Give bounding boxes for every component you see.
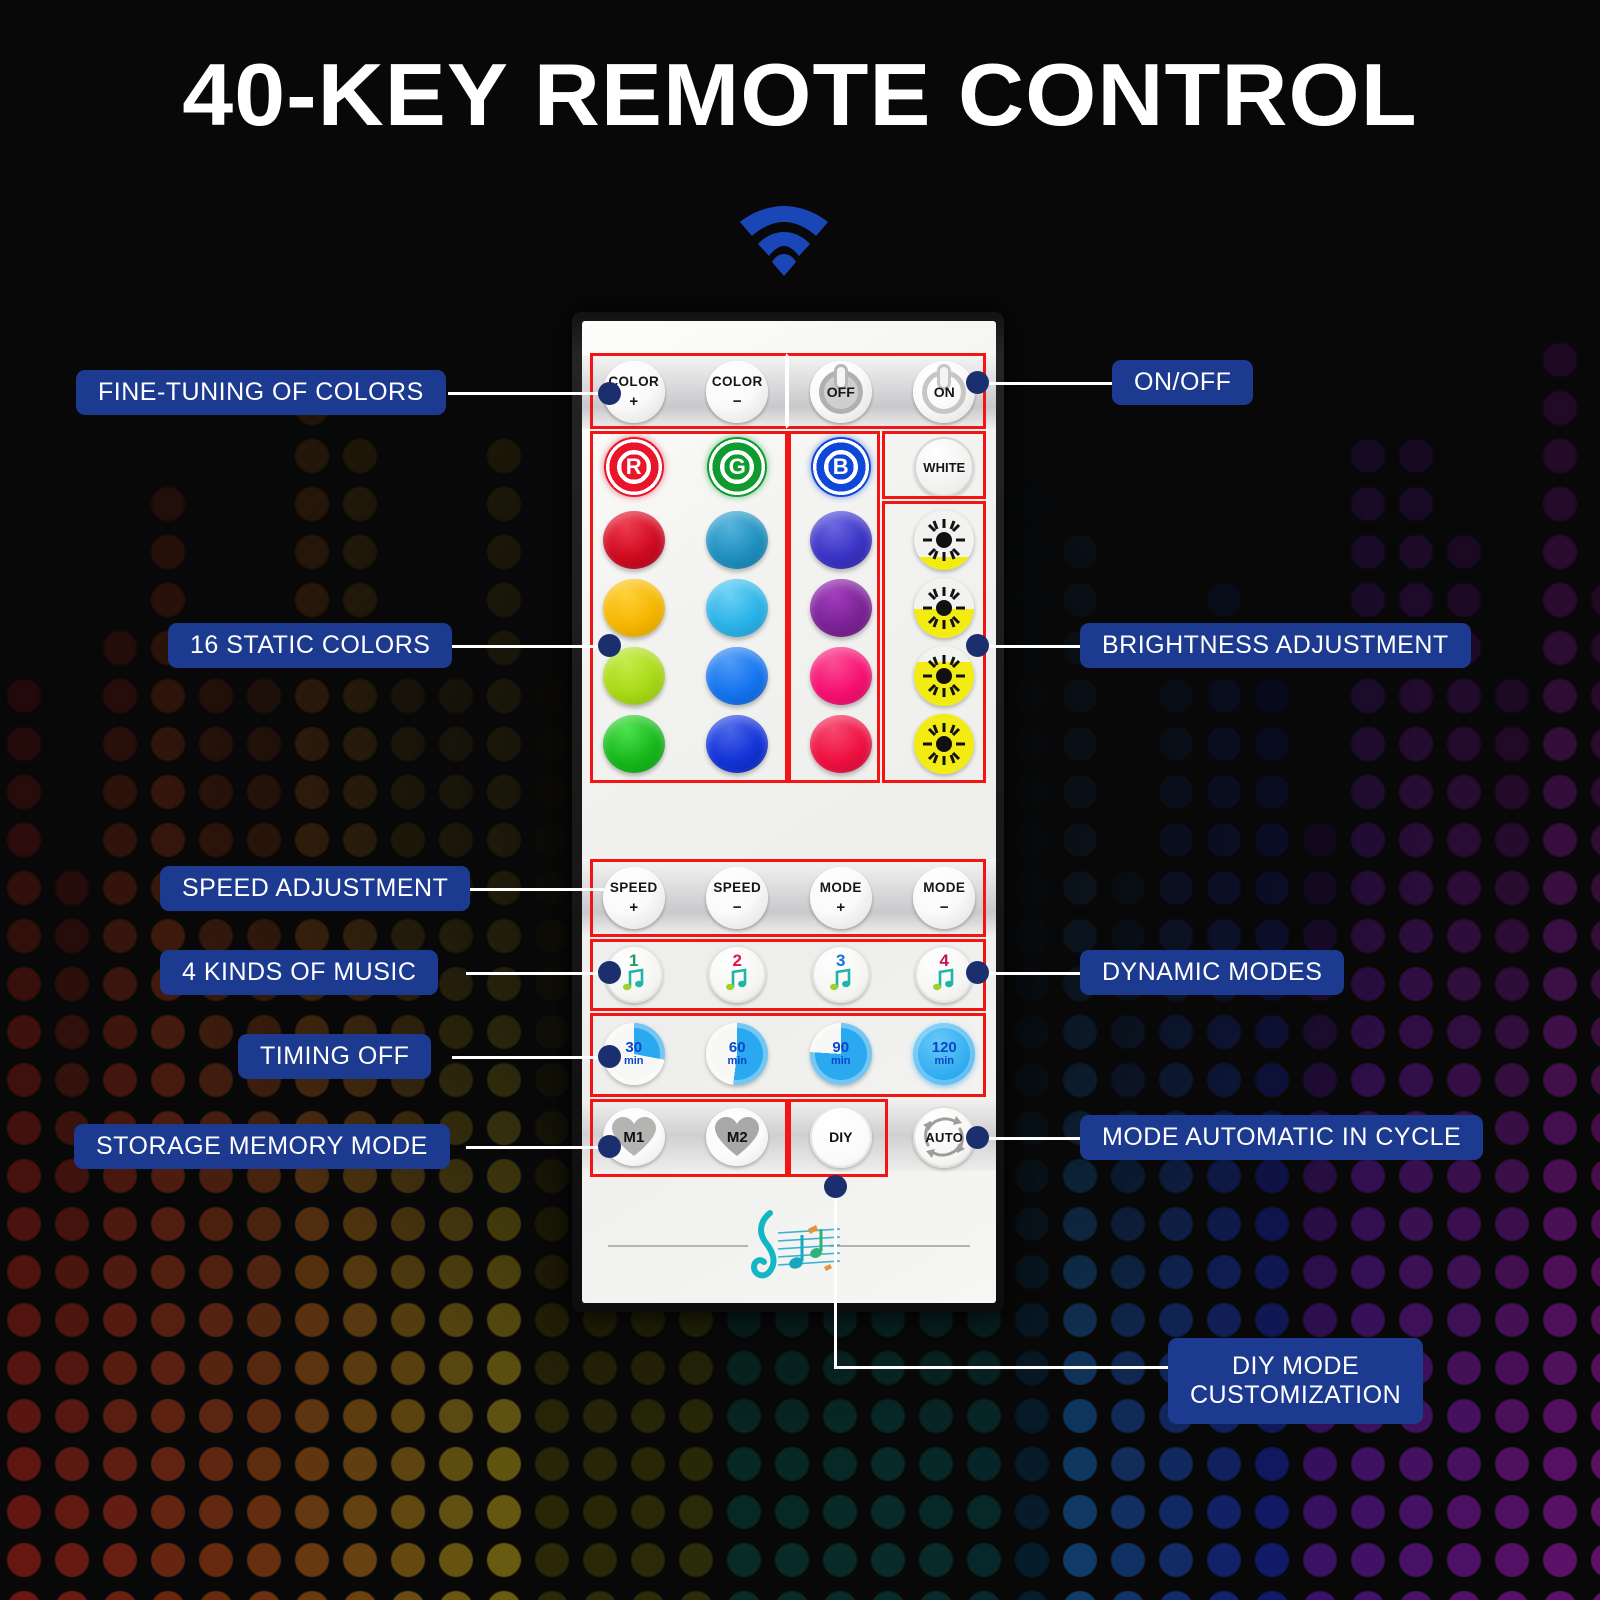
row-memory-diy-auto: M1 M2 DIY	[582, 1103, 996, 1171]
callout-speed-adjustment[interactable]: SPEED ADJUSTMENT	[160, 866, 470, 911]
timer-30-unit: min	[624, 1056, 644, 1067]
mode-minus-button[interactable]: MODE −	[913, 867, 975, 929]
node-brightness	[966, 634, 989, 657]
color-swatch[interactable]	[810, 715, 872, 773]
callout-on-off[interactable]: ON/OFF	[1112, 360, 1253, 405]
leader-auto	[980, 1137, 1082, 1140]
callout-diy-mode-customization[interactable]: DIY MODE CUSTOMIZATION	[1168, 1338, 1423, 1424]
diy-button[interactable]: DIY	[810, 1106, 872, 1168]
timer-90-button[interactable]: 90 min	[810, 1023, 872, 1085]
cell-timer-60: 60 min	[686, 1019, 790, 1089]
row-colors-4	[582, 711, 996, 777]
cell-color-c0r1	[582, 575, 686, 641]
color-swatch[interactable]	[810, 579, 872, 637]
callout-fine-tuning-of-colors[interactable]: FINE-TUNING OF COLORS	[76, 370, 446, 415]
row-rgb-white: R G B WHITE	[582, 433, 996, 501]
music-3-number: 3	[836, 952, 845, 969]
cell-white: WHITE	[893, 433, 997, 501]
cell-music-2: 2	[686, 941, 790, 1007]
brightness-level-1-button[interactable]	[914, 510, 974, 570]
cell-color-c1r3	[686, 711, 790, 777]
cell-red: R	[582, 433, 686, 501]
color-swatch[interactable]	[706, 647, 768, 705]
brightness-level-3-button[interactable]	[914, 646, 974, 706]
callout-mode-automatic-in-cycle[interactable]: MODE AUTOMATIC IN CYCLE	[1080, 1115, 1483, 1160]
mode-plus-sign: +	[836, 900, 845, 915]
color-swatch[interactable]	[706, 715, 768, 773]
memory-m2-button[interactable]: M2	[706, 1108, 768, 1166]
row-timers: 30 min 60 min 90 min 120 min	[582, 1019, 996, 1089]
speed-plus-button[interactable]: SPEED +	[603, 867, 665, 929]
blue-key-button[interactable]: B	[811, 437, 871, 497]
red-key-label: R	[626, 454, 642, 480]
node-dynamic	[966, 961, 989, 984]
white-key-label: WHITE	[923, 460, 965, 475]
node-auto	[966, 1126, 989, 1149]
leader-static-colors	[441, 645, 605, 648]
row-colors-3	[582, 643, 996, 709]
row-colors-2	[582, 575, 996, 641]
timer-60-button[interactable]: 60 min	[706, 1023, 768, 1085]
speed-plus-label: SPEED	[610, 881, 658, 895]
leader-diy-vertical	[834, 1186, 837, 1366]
color-swatch[interactable]	[706, 511, 768, 569]
music-mode-4-button[interactable]: 4	[915, 945, 973, 1003]
node-static-colors	[598, 634, 621, 657]
callout-16-static-colors[interactable]: 16 STATIC COLORS	[168, 623, 452, 668]
mode-minus-label: MODE	[923, 881, 965, 895]
color-swatch[interactable]	[603, 511, 665, 569]
row-music: 1 2 3 4	[582, 941, 996, 1007]
power-on-label: ON	[934, 384, 955, 400]
green-key-label: G	[729, 454, 746, 480]
timer-120-unit: min	[934, 1056, 954, 1067]
timer-120-value: 120	[932, 1041, 957, 1055]
color-swatch[interactable]	[810, 647, 872, 705]
callout-dynamic-modes[interactable]: DYNAMIC MODES	[1080, 950, 1344, 995]
diy-label: DIY	[829, 1129, 852, 1145]
callout-storage-memory-mode[interactable]: STORAGE MEMORY MODE	[74, 1124, 450, 1169]
cell-mode-minus: MODE −	[893, 863, 997, 933]
cell-speed-minus: SPEED −	[686, 863, 790, 933]
row-top-controls: COLOR + COLOR − OFF	[582, 357, 996, 427]
cell-blue: B	[789, 433, 893, 501]
white-key-button[interactable]: WHITE	[914, 437, 974, 497]
node-on-off	[966, 371, 989, 394]
footer-line-left	[608, 1245, 748, 1247]
cell-color-c0r2	[582, 643, 686, 709]
cell-memory-m2: M2	[686, 1103, 790, 1171]
color-minus-sign: −	[733, 394, 742, 409]
cell-color-c2r1	[789, 575, 893, 641]
speed-minus-label: SPEED	[713, 881, 761, 895]
row-colors-1	[582, 507, 996, 573]
leader-dynamic	[980, 972, 1082, 975]
music-note-logo	[736, 1205, 846, 1291]
color-minus-label: COLOR	[712, 375, 763, 389]
music-4-number: 4	[940, 952, 949, 969]
cell-memory-m1: M1	[582, 1103, 686, 1171]
node-memory	[598, 1135, 621, 1158]
cell-brightness-2	[893, 575, 997, 641]
leader-diy-horizontal	[834, 1366, 1168, 1369]
leader-memory	[466, 1146, 604, 1149]
color-plus-sign: +	[629, 394, 638, 409]
callout-diy-line1: DIY MODE	[1232, 1352, 1359, 1382]
row-speed-mode: SPEED + SPEED − MODE + MODE −	[582, 863, 996, 933]
auto-label: AUTO	[925, 1130, 963, 1145]
brightness-sun-icon	[914, 646, 974, 706]
cell-color-c1r2	[686, 643, 790, 709]
callout-timing-off[interactable]: TIMING OFF	[238, 1034, 431, 1079]
callout-diy-line2: CUSTOMIZATION	[1190, 1381, 1401, 1411]
cell-speed-plus: SPEED +	[582, 863, 686, 933]
speed-plus-sign: +	[629, 900, 638, 915]
red-key-button[interactable]: R	[604, 437, 664, 497]
node-timing	[598, 1045, 621, 1068]
remote-control-device: COLOR + COLOR − OFF	[572, 312, 1004, 1312]
timer-90-unit: min	[831, 1056, 851, 1067]
leader-on-off	[980, 382, 1114, 385]
cell-color-c0r0	[582, 507, 686, 573]
cell-music-3: 3	[789, 941, 893, 1007]
music-1-number: 1	[629, 952, 638, 969]
speed-minus-button[interactable]: SPEED −	[706, 867, 768, 929]
timer-90-value: 90	[832, 1041, 849, 1055]
memory-m2-label: M2	[727, 1129, 748, 1146]
wifi-icon	[736, 200, 832, 280]
cell-mode-plus: MODE +	[789, 863, 893, 933]
color-swatch[interactable]	[603, 579, 665, 637]
cell-timer-120: 120 min	[893, 1019, 997, 1089]
cell-color-minus: COLOR −	[686, 357, 790, 427]
page-title: 40-KEY REMOTE CONTROL	[0, 44, 1600, 146]
color-swatch[interactable]	[810, 511, 872, 569]
cell-timer-90: 90 min	[789, 1019, 893, 1089]
node-fine-tuning	[598, 382, 621, 405]
brightness-sun-icon	[914, 510, 974, 570]
node-music	[598, 961, 621, 984]
mode-minus-sign: −	[940, 900, 949, 915]
power-off-button[interactable]: OFF	[810, 361, 872, 423]
timer-60-unit: min	[727, 1056, 747, 1067]
blue-key-label: B	[833, 454, 849, 480]
color-swatch[interactable]	[603, 715, 665, 773]
cell-color-c2r2	[789, 643, 893, 709]
timer-120-button[interactable]: 120 min	[913, 1023, 975, 1085]
leader-music	[466, 972, 604, 975]
music-mode-3-button[interactable]: 3	[812, 945, 870, 1003]
cell-color-c1r0	[686, 507, 790, 573]
brightness-level-2-button[interactable]	[914, 578, 974, 638]
mode-plus-label: MODE	[820, 881, 862, 895]
cell-diy: DIY	[789, 1103, 893, 1171]
color-minus-button[interactable]: COLOR −	[706, 361, 768, 423]
mode-plus-button[interactable]: MODE +	[810, 867, 872, 929]
power-on-button[interactable]: ON	[913, 361, 975, 423]
callout-4-kinds-of-music[interactable]: 4 KINDS OF MUSIC	[160, 950, 438, 995]
cell-color-c2r3	[789, 711, 893, 777]
green-key-button[interactable]: G	[707, 437, 767, 497]
footer-line-right	[830, 1245, 970, 1247]
cell-color-c2r0	[789, 507, 893, 573]
speed-minus-sign: −	[733, 900, 742, 915]
leader-speed	[466, 888, 604, 891]
brightness-sun-icon	[914, 578, 974, 638]
music-mode-2-button[interactable]: 2	[708, 945, 766, 1003]
cell-green: G	[686, 433, 790, 501]
node-diy	[824, 1175, 847, 1198]
memory-m1-label: M1	[623, 1129, 644, 1146]
timer-30-value: 30	[625, 1041, 642, 1055]
cell-brightness-1	[893, 507, 997, 573]
remote-faceplate: COLOR + COLOR − OFF	[582, 321, 996, 1303]
leader-brightness	[980, 645, 1082, 648]
cell-brightness-4	[893, 711, 997, 777]
timer-60-value: 60	[729, 1041, 746, 1055]
leader-fine-tuning	[448, 392, 604, 395]
brightness-sun-icon	[914, 714, 974, 774]
cell-color-c1r1	[686, 575, 790, 641]
brightness-level-4-button[interactable]	[914, 714, 974, 774]
callout-brightness-adjustment[interactable]: BRIGHTNESS ADJUSTMENT	[1080, 623, 1471, 668]
leader-timing	[452, 1056, 604, 1059]
color-swatch[interactable]	[706, 579, 768, 637]
power-off-label: OFF	[827, 384, 855, 400]
music-2-number: 2	[733, 952, 742, 969]
cell-color-c0r3	[582, 711, 686, 777]
cell-power-off: OFF	[789, 357, 893, 427]
